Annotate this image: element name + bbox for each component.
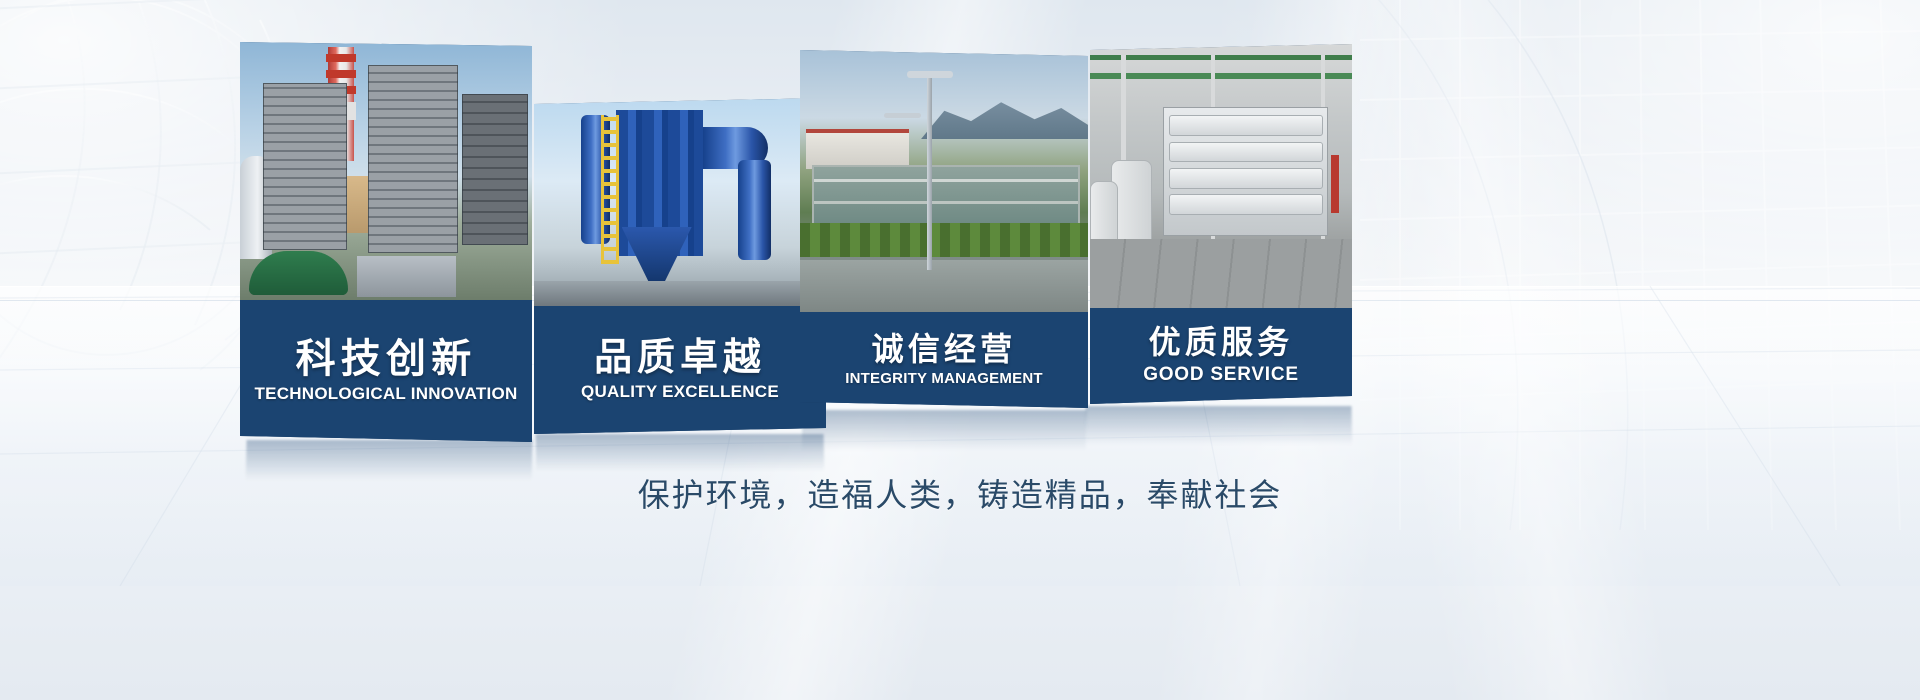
photo3-lamp-head [907,71,953,78]
photo4-tiled-floor [1090,239,1352,308]
photo1-tower-center [368,65,458,253]
photo3-lamp-post [927,71,933,270]
photo1-tower-left [263,83,347,250]
card-title-en-3: INTEGRITY MANAGEMENT [845,370,1043,387]
photo2-concrete-base [534,281,826,306]
photo1-green-equipment [249,251,348,295]
card-title-en-1: TECHNOLOGICAL INNOVATION [254,384,517,404]
photo4-green-pipe-top [1090,55,1352,61]
card-photo-1 [240,42,532,300]
feature-card-technological-innovation[interactable]: 科技创新 TECHNOLOGICAL INNOVATION [240,42,532,442]
photo4-membrane-vessel-4 [1169,194,1323,214]
photo4-red-valve-handle [1331,155,1339,213]
card-reflection-3 [802,410,1087,462]
card-title-cn-4: 优质服务 [1149,326,1294,360]
card-title-cn-1: 科技创新 [296,338,477,380]
card-title-en-4: GOOD SERVICE [1143,364,1299,386]
photo4-membrane-vessel-1 [1169,115,1323,135]
photo4-green-pipe-second [1090,73,1352,79]
feature-card-quality-excellence[interactable]: 品质卓越 QUALITY EXCELLENCE [534,98,826,434]
card-band-2: 品质卓越 QUALITY EXCELLENCE [534,306,826,434]
photo3-road [800,260,1088,312]
photo4-membrane-vessel-2 [1169,142,1323,162]
card-photo-2 [534,98,826,306]
feature-card-list: 科技创新 TECHNOLOGICAL INNOVATION [0,0,1920,700]
card-reflection-4 [1086,406,1353,456]
photo1-grey-enclosure [357,256,456,297]
banner-tagline: 保护环境，造福人类，铸造精品，奉献社会 [0,470,1920,516]
card-title-en-2: QUALITY EXCELLENCE [581,382,779,402]
photo3-lamp-head-secondary [884,113,921,118]
photo3-clarifier-pool [812,165,1081,227]
photo3-plant-building [806,129,910,170]
photo4-chemical-tank-far-left [1090,181,1118,246]
card-band-3: 诚信经营 INTEGRITY MANAGEMENT [800,312,1088,408]
card-photo-3 [800,50,1088,312]
photo3-hedge-row [800,223,1088,257]
photo2-yellow-ladder [601,115,619,265]
photo2-right-duct [738,160,770,260]
card-title-cn-3: 诚信经营 [872,333,1017,367]
photo1-tower-right [462,94,528,246]
feature-card-good-service[interactable]: 优质服务 GOOD SERVICE [1090,44,1352,404]
banner-stage: 科技创新 TECHNOLOGICAL INNOVATION [0,0,1920,700]
photo3-mountains [921,92,1088,139]
card-band-1: 科技创新 TECHNOLOGICAL INNOVATION [240,300,532,442]
card-band-4: 优质服务 GOOD SERVICE [1090,308,1352,404]
card-photo-4 [1090,44,1352,308]
photo4-membrane-vessel-3 [1169,168,1323,188]
feature-card-integrity-management[interactable]: 诚信经营 INTEGRITY MANAGEMENT [800,50,1088,408]
card-title-cn-2: 品质卓越 [594,338,766,378]
